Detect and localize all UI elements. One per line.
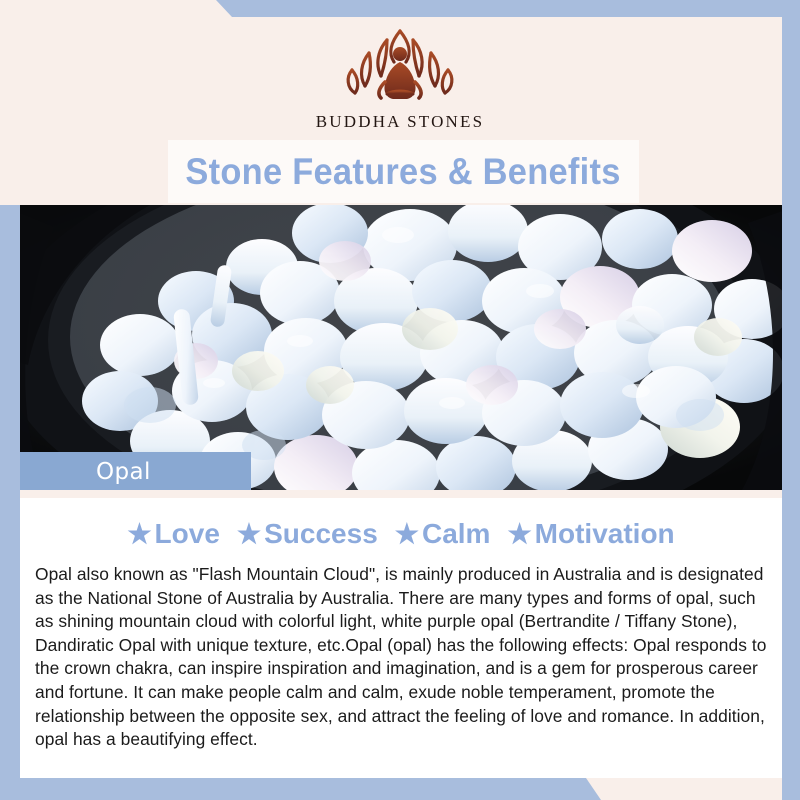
keyword-label: Motivation bbox=[535, 518, 675, 550]
keyword-label: Success bbox=[264, 518, 378, 550]
bottom-accent-bar bbox=[0, 778, 800, 800]
page-title: Stone Features & Benefits bbox=[186, 151, 621, 193]
panel-top-strip bbox=[20, 490, 782, 498]
keyword-motivation: ★ Motivation bbox=[507, 518, 674, 550]
star-icon: ★ bbox=[507, 521, 531, 548]
stone-photo-illustration bbox=[0, 205, 800, 490]
keyword-love: ★ Love bbox=[127, 518, 220, 550]
stone-name-label: Opal bbox=[18, 459, 151, 485]
star-icon: ★ bbox=[127, 521, 151, 548]
left-accent-bar bbox=[0, 205, 20, 800]
keyword-label: Love bbox=[155, 518, 220, 550]
keyword-label: Calm bbox=[422, 518, 490, 550]
stone-description: Opal also known as "Flash Mountain Cloud… bbox=[35, 563, 773, 752]
right-accent-bar bbox=[782, 0, 800, 800]
header-section: BUDDHA STONES Stone Features & Benefits bbox=[0, 0, 800, 205]
benefit-keywords: ★ Love ★ Success ★ Calm ★ Motivation bbox=[20, 518, 782, 550]
lotus-meditation-figure-icon bbox=[325, 22, 475, 110]
infographic-page: BUDDHA STONES Stone Features & Benefits bbox=[0, 0, 800, 800]
keyword-success: ★ Success bbox=[237, 518, 378, 550]
stone-photo bbox=[0, 205, 800, 490]
brand-logo: BUDDHA STONES bbox=[0, 22, 800, 132]
brand-name: BUDDHA STONES bbox=[316, 112, 485, 132]
title-panel: Stone Features & Benefits bbox=[168, 140, 639, 203]
stone-name-badge: Opal bbox=[18, 452, 251, 492]
star-icon: ★ bbox=[395, 521, 419, 548]
keyword-calm: ★ Calm bbox=[395, 518, 491, 550]
star-icon: ★ bbox=[237, 521, 261, 548]
